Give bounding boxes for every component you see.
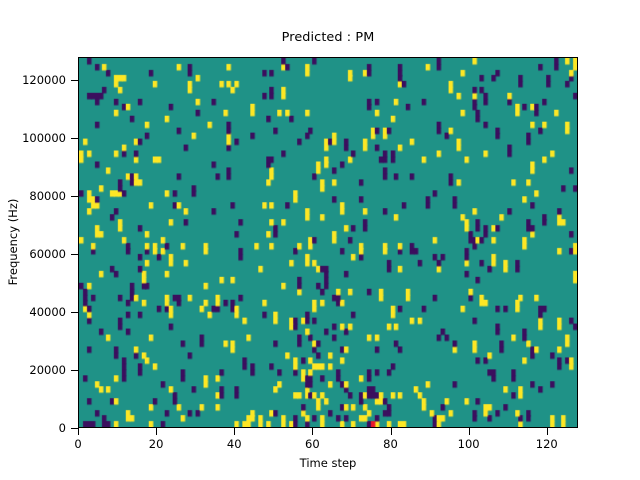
heatmap-canvas [79,58,577,427]
x-tick-label: 100 [458,437,480,451]
x-axis-label: Time step [78,456,578,470]
x-tick-mark [547,428,548,435]
y-tick-label: 40000 [29,305,66,319]
y-tick-label: 60000 [29,247,66,261]
x-tick-mark [78,428,79,435]
y-tick-label: 80000 [29,189,66,203]
heatmap-axes [78,57,578,428]
y-tick-mark [71,80,78,81]
y-tick-label: 120000 [22,73,66,87]
x-tick-label: 60 [305,437,320,451]
x-tick-mark [156,428,157,435]
y-tick-mark [71,138,78,139]
y-axis-label: Frequency (Hz) [6,199,20,286]
y-tick-mark [71,428,78,429]
x-tick-label: 20 [149,437,164,451]
x-tick-mark [469,428,470,435]
y-tick-mark [71,312,78,313]
x-tick-mark [391,428,392,435]
x-tick-label: 0 [74,437,81,451]
x-tick-label: 40 [227,437,242,451]
y-tick-label: 20000 [29,363,66,377]
matplotlib-figure: Predicted : PM Time step Frequency (Hz) … [0,0,640,480]
y-tick-mark [71,370,78,371]
y-tick-label: 0 [59,421,66,435]
x-tick-label: 120 [536,437,558,451]
y-tick-label: 100000 [22,131,66,145]
x-tick-mark [234,428,235,435]
chart-title: Predicted : PM [78,30,578,45]
y-tick-mark [71,254,78,255]
x-tick-mark [312,428,313,435]
y-tick-mark [71,196,78,197]
x-tick-label: 80 [383,437,398,451]
